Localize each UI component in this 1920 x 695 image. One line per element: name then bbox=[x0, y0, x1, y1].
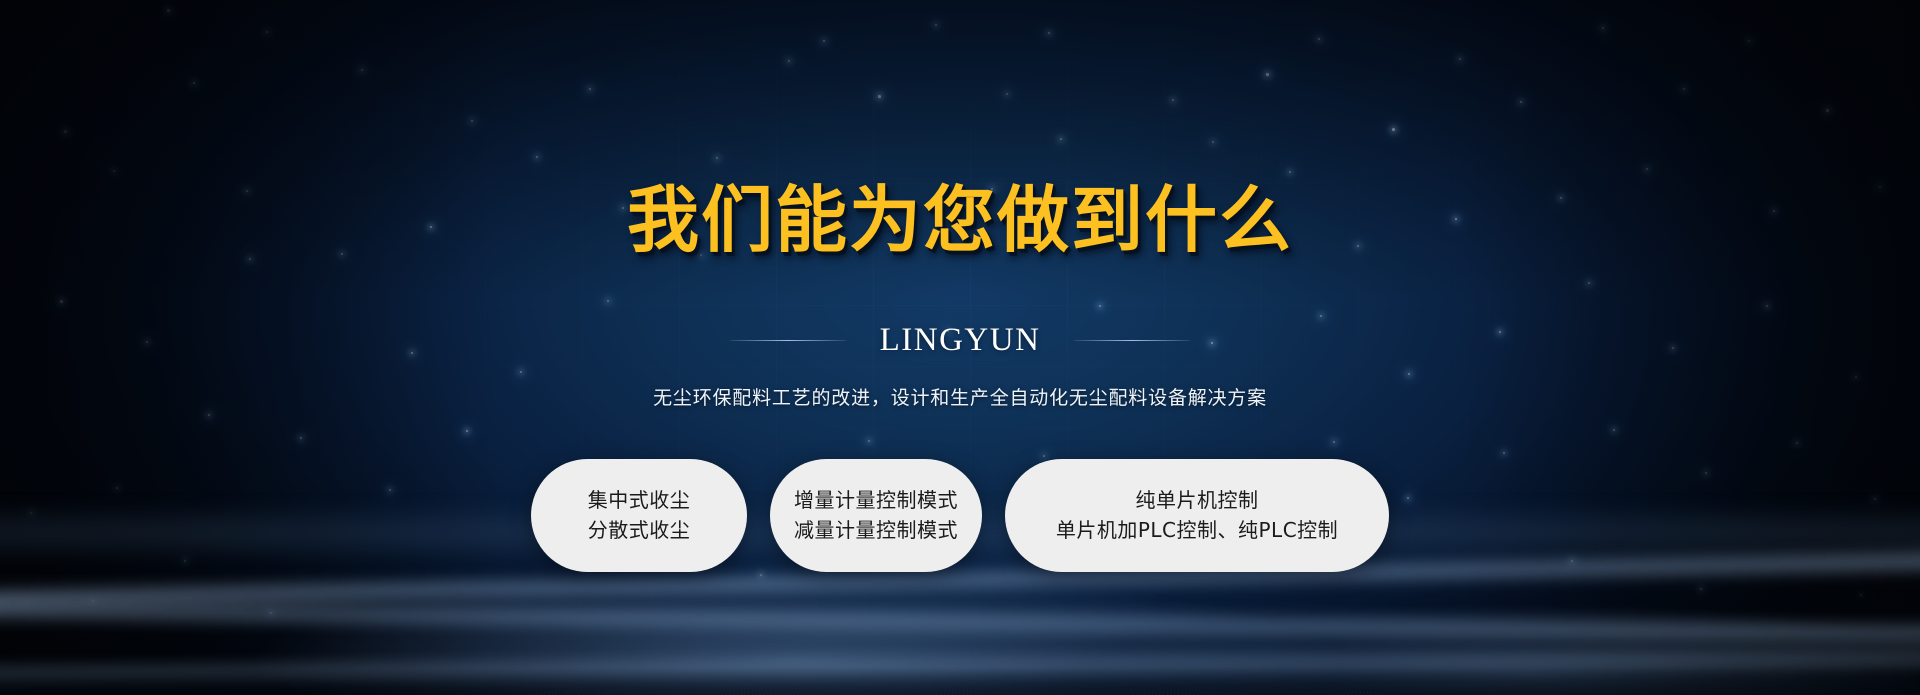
feature-card-control-system[interactable]: 纯单片机控制 单片机加PLC控制、纯PLC控制 bbox=[1005, 459, 1389, 572]
hero-banner: 我们能为您做到什么 LINGYUN 无尘环保配料工艺的改进，设计和生产全自动化无… bbox=[0, 0, 1920, 695]
banner-tagline: 无尘环保配料工艺的改进，设计和生产全自动化无尘配料设备解决方案 bbox=[653, 383, 1267, 410]
banner-headline: 我们能为您做到什么 bbox=[627, 184, 1293, 256]
brand-subtitle-row: LINGYUN bbox=[730, 324, 1191, 357]
card-line: 集中式收尘 bbox=[588, 489, 691, 512]
divider-line-left bbox=[730, 340, 846, 341]
feature-card-dust-collection[interactable]: 集中式收尘 分散式收尘 bbox=[531, 459, 747, 572]
feature-card-list: 集中式收尘 分散式收尘 增量计量控制模式 减量计量控制模式 纯单片机控制 单片机… bbox=[531, 459, 1389, 572]
card-line: 单片机加PLC控制、纯PLC控制 bbox=[1056, 519, 1338, 542]
banner-content: 我们能为您做到什么 LINGYUN 无尘环保配料工艺的改进，设计和生产全自动化无… bbox=[0, 0, 1920, 695]
card-line: 增量计量控制模式 bbox=[794, 489, 958, 512]
brand-subtitle: LINGYUN bbox=[880, 324, 1041, 357]
card-line: 纯单片机控制 bbox=[1136, 489, 1259, 512]
card-line: 分散式收尘 bbox=[588, 519, 691, 542]
divider-line-right bbox=[1074, 340, 1190, 341]
feature-card-metering-mode[interactable]: 增量计量控制模式 减量计量控制模式 bbox=[770, 459, 982, 572]
card-line: 减量计量控制模式 bbox=[794, 519, 958, 542]
